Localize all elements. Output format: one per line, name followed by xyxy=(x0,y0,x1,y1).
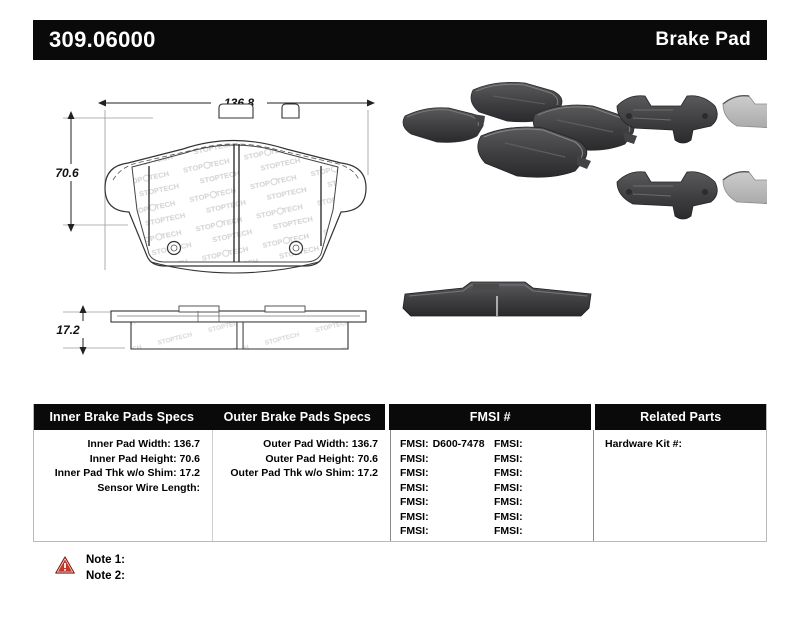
dimension-height-label: 70.6 xyxy=(55,166,79,180)
pad-front-view xyxy=(105,104,366,273)
specifications-table: Inner Brake Pads Specs Outer Brake Pads … xyxy=(33,404,767,542)
cell-related-parts: Hardware Kit #: xyxy=(593,430,766,541)
note-1: Note 1: xyxy=(86,552,125,568)
fmsi-label: FMSI: xyxy=(400,467,429,479)
sensor-wire-length: Sensor Wire Length: xyxy=(34,481,212,496)
fmsi-row: FMSI: xyxy=(400,495,494,510)
fmsi-label: FMSI: xyxy=(494,453,523,465)
column-header-outer-specs: Outer Brake Pads Specs xyxy=(210,404,386,430)
fmsi-label: FMSI: xyxy=(494,482,523,494)
spec-sheet: 309.06000 Brake Pad STOP TECH STOPTECH S… xyxy=(0,0,800,619)
product-type: Brake Pad xyxy=(655,29,751,51)
outer-pad-thickness: Outer Pad Thk w/o Shim: 17.2 xyxy=(213,466,390,481)
fmsi-row: FMSI: xyxy=(400,524,494,539)
drawing-area: STOP TECH STOPTECH STOPTECH xyxy=(33,70,767,390)
technical-drawing-svg: STOP TECH STOPTECH STOPTECH xyxy=(33,70,767,390)
fmsi-row: FMSI: xyxy=(400,510,494,525)
fmsi-row: FMSI: xyxy=(494,437,588,452)
fmsi-label: FMSI: xyxy=(400,496,429,508)
product-photo-edge xyxy=(403,282,591,316)
fmsi-row: FMSI: xyxy=(494,495,588,510)
fmsi-row: FMSI: xyxy=(494,510,588,525)
fmsi-row: FMSI: xyxy=(400,481,494,496)
fmsi-label: FMSI: xyxy=(494,511,523,523)
pad-side-view xyxy=(111,306,366,349)
note-text-block: Note 1: Note 2: xyxy=(86,552,125,584)
fmsi-row: FMSI: xyxy=(494,524,588,539)
cell-outer-specs: Outer Pad Width: 136.7 Outer Pad Height:… xyxy=(212,430,390,541)
header-bar: 309.06000 Brake Pad xyxy=(33,20,767,60)
column-header-inner-specs: Inner Brake Pads Specs xyxy=(34,404,210,430)
fmsi-label: FMSI: xyxy=(494,467,523,479)
fmsi-label: FMSI: xyxy=(494,496,523,508)
fmsi-label: FMSI: xyxy=(400,438,429,450)
outer-pad-width: Outer Pad Width: 136.7 xyxy=(213,437,390,452)
product-photo-perspective xyxy=(403,82,637,177)
warning-triangle-icon xyxy=(55,556,75,579)
fmsi-row: FMSI: xyxy=(400,466,494,481)
product-photo-grid xyxy=(617,96,767,219)
inner-pad-thickness: Inner Pad Thk w/o Shim: 17.2 xyxy=(34,466,212,481)
column-header-related-parts: Related Parts xyxy=(595,404,766,430)
fmsi-column-left: FMSI:D600-7478 FMSI: FMSI: FMSI: FMSI: xyxy=(400,437,494,539)
outer-pad-height: Outer Pad Height: 70.6 xyxy=(213,452,390,467)
fmsi-label: FMSI: xyxy=(400,482,429,494)
fmsi-row: FMSI: xyxy=(494,466,588,481)
table-body: Inner Pad Width: 136.7 Inner Pad Height:… xyxy=(34,430,766,541)
fmsi-label: FMSI: xyxy=(494,525,523,537)
fmsi-row: FMSI: xyxy=(494,481,588,496)
dimension-thickness-label: 17.2 xyxy=(56,323,80,337)
part-number: 309.06000 xyxy=(49,27,156,53)
fmsi-value: D600-7478 xyxy=(433,438,485,450)
table-header-row: Inner Brake Pads Specs Outer Brake Pads … xyxy=(34,404,766,430)
inner-pad-width: Inner Pad Width: 136.7 xyxy=(34,437,212,452)
inner-pad-height: Inner Pad Height: 70.6 xyxy=(34,452,212,467)
cell-fmsi: FMSI:D600-7478 FMSI: FMSI: FMSI: FMSI: xyxy=(390,430,593,541)
fmsi-row: FMSI: xyxy=(494,452,588,467)
hardware-kit-number: Hardware Kit #: xyxy=(594,437,766,452)
fmsi-row: FMSI: xyxy=(400,452,494,467)
notes-section: Note 1: Note 2: xyxy=(55,552,125,584)
fmsi-label: FMSI: xyxy=(400,525,429,537)
cell-inner-specs: Inner Pad Width: 136.7 Inner Pad Height:… xyxy=(34,430,212,541)
fmsi-label: FMSI: xyxy=(400,511,429,523)
fmsi-label: FMSI: xyxy=(494,438,523,450)
column-header-fmsi: FMSI # xyxy=(389,404,591,430)
fmsi-label: FMSI: xyxy=(400,453,429,465)
note-2: Note 2: xyxy=(86,568,125,584)
fmsi-column-right: FMSI: FMSI: FMSI: FMSI: FMSI: xyxy=(494,437,588,539)
fmsi-row: FMSI:D600-7478 xyxy=(400,437,494,452)
